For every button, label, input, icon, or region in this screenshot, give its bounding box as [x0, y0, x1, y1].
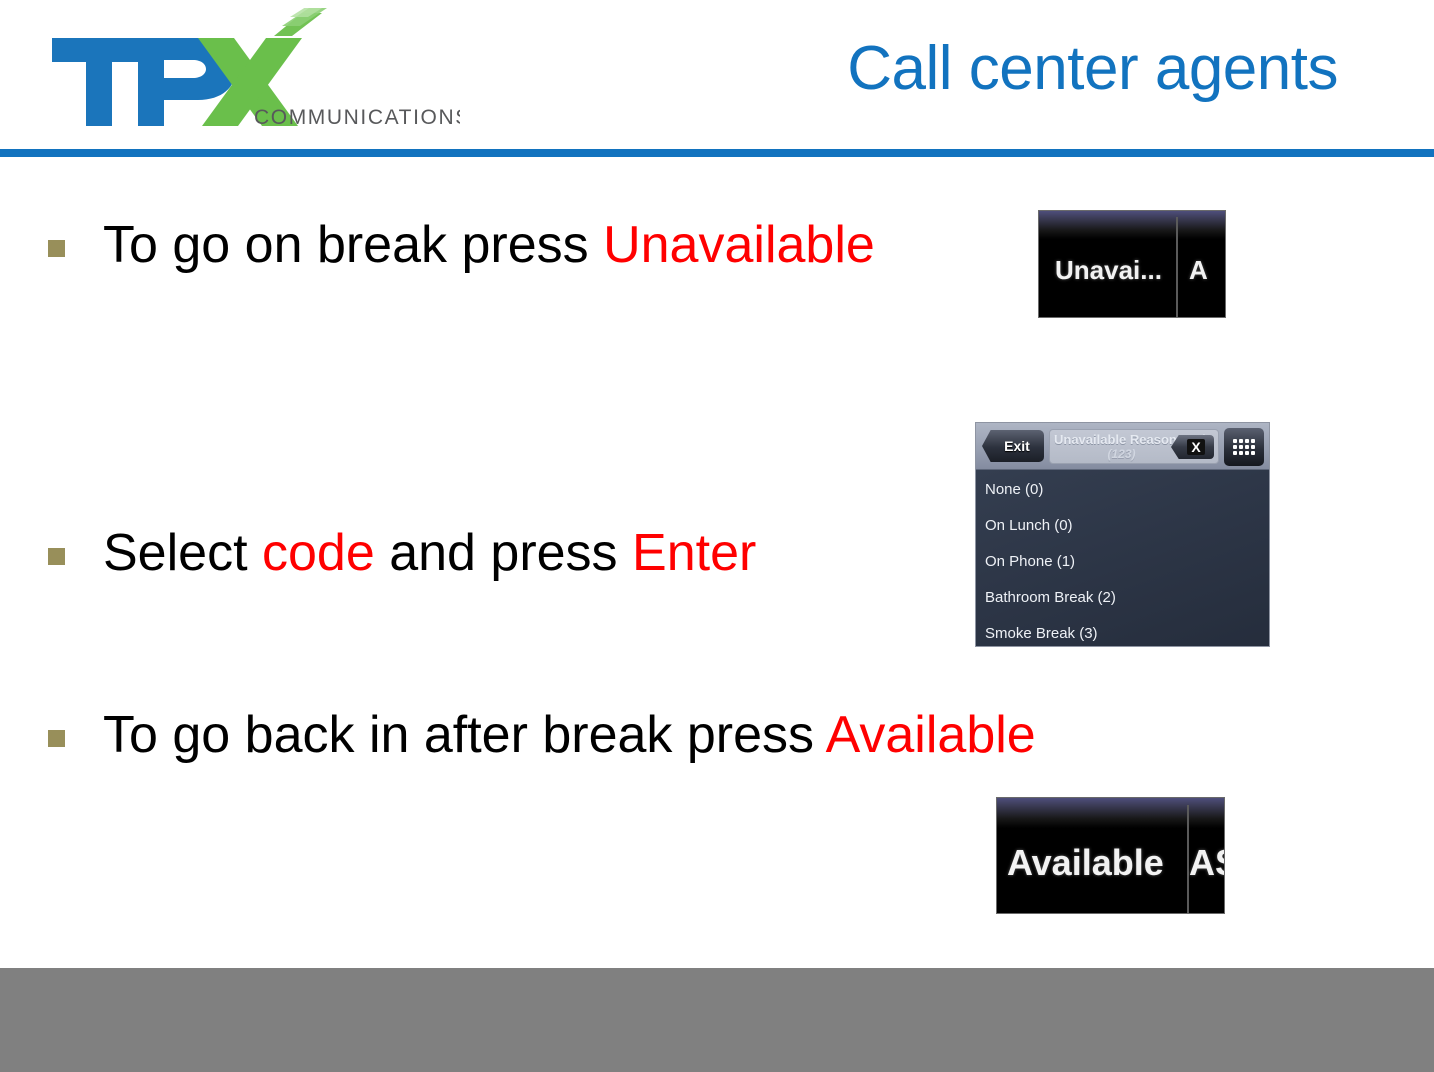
slide: COMMUNICATIONS Call center agents To go …	[0, 0, 1434, 1072]
bullet-item-1: To go on break press Unavailable	[48, 218, 875, 273]
available-softkey-partial-label: A	[1189, 255, 1208, 286]
bullet-2-lead: Select	[103, 524, 262, 582]
page-title: Call center agents	[847, 38, 1338, 100]
slide-header: COMMUNICATIONS Call center agents	[0, 0, 1434, 150]
reason-panel-subtitle: (123)	[1054, 447, 1189, 461]
softkey-divider	[1176, 217, 1178, 317]
bullet-2-emphasis-2: Enter	[632, 524, 756, 582]
bullet-1-emphasis: Unavailable	[603, 216, 875, 274]
list-item[interactable]: None (0)	[976, 472, 1269, 508]
footer-bar	[0, 968, 1434, 1072]
tpx-logo-svg: COMMUNICATIONS	[30, 8, 460, 136]
keypad-icon	[1233, 439, 1255, 455]
bullet-2-emphasis: code	[262, 524, 375, 582]
list-item[interactable]: Smoke Break (3)	[976, 616, 1269, 647]
bullet-text-3: To go back in after break press Availabl…	[103, 708, 1036, 763]
exit-button[interactable]: Exit	[982, 430, 1044, 462]
tpx-logo: COMMUNICATIONS	[30, 8, 460, 136]
reason-panel-title: Unavailable Reason Code	[1054, 432, 1189, 447]
unavailable-softkey-label: Unavai...	[1055, 255, 1162, 286]
phone-status-strip	[997, 798, 1224, 828]
as-softkey-partial-label: AS	[1189, 842, 1225, 884]
available-softkey-label: Available	[1007, 842, 1164, 884]
bullet-1-lead: To go on break press	[103, 216, 603, 274]
bullet-text-1: To go on break press Unavailable	[103, 218, 875, 273]
phone-status-strip	[1039, 211, 1225, 239]
header-divider	[0, 149, 1434, 157]
reason-panel-title-field: Unavailable Reason Code (123) X	[1049, 429, 1219, 464]
backspace-x-icon: X	[1187, 439, 1204, 455]
unavailable-reason-code-panel: Exit Unavailable Reason Code (123) X Non…	[975, 422, 1270, 647]
list-item[interactable]: On Lunch (0)	[976, 508, 1269, 544]
square-bullet-icon	[48, 548, 65, 565]
list-item[interactable]: Bathroom Break (2)	[976, 580, 1269, 616]
square-bullet-icon	[48, 240, 65, 257]
bullet-item-2: Select code and press Enter	[48, 526, 756, 581]
bullet-text-2: Select code and press Enter	[103, 526, 756, 581]
bullet-3-emphasis: Available	[826, 706, 1036, 764]
bullet-2-middle: and press	[375, 524, 632, 582]
unavailable-softkey-screenshot: Unavai... A	[1038, 210, 1226, 318]
backspace-button[interactable]: X	[1171, 435, 1214, 459]
reason-panel-header: Exit Unavailable Reason Code (123) X	[976, 423, 1269, 470]
list-item[interactable]: On Phone (1)	[976, 544, 1269, 580]
square-bullet-icon	[48, 730, 65, 747]
svg-text:COMMUNICATIONS: COMMUNICATIONS	[254, 106, 460, 129]
bullet-item-3: To go back in after break press Availabl…	[48, 708, 1036, 763]
keypad-button[interactable]	[1224, 428, 1264, 466]
bullet-3-lead: To go back in after break press	[103, 706, 826, 764]
reason-code-list[interactable]: None (0) On Lunch (0) On Phone (1) Bathr…	[976, 470, 1269, 647]
available-softkey-screenshot: Available AS	[996, 797, 1225, 914]
